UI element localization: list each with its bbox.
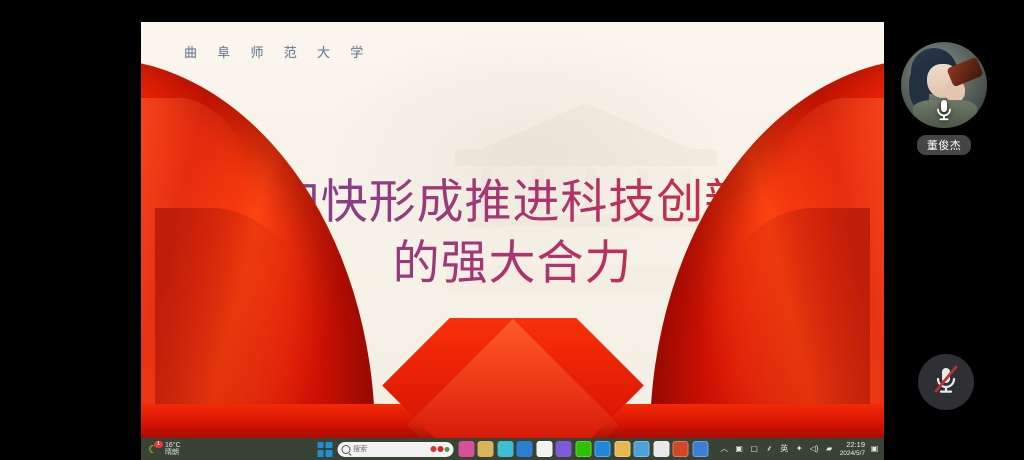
search-icon [341, 445, 350, 454]
weather-condition: 晴朗 [165, 449, 181, 456]
university-name: 曲 阜 师 范 大 学 [184, 42, 371, 61]
shared-screen-region[interactable]: 曲 阜 师 范 大 学 加快形成推进科技创新 的强大合力 ☾ 1 [141, 22, 884, 460]
app-browser-alt[interactable] [634, 441, 650, 457]
show-hidden-icons[interactable]: ︿ [719, 444, 730, 455]
wifi-icon[interactable]: ✦ [794, 444, 805, 455]
app-wechat[interactable] [575, 441, 591, 457]
participant-name: 董俊杰 [917, 135, 971, 155]
microphone-muted-icon [931, 363, 961, 402]
clock-time: 22:19 [846, 441, 865, 449]
app-clash[interactable] [497, 441, 513, 457]
microphone-icon [934, 97, 954, 130]
weather-temperature: 16°C [165, 442, 181, 449]
participant-tile[interactable]: 董俊杰 [898, 42, 990, 155]
app-xmind[interactable] [692, 441, 708, 457]
microphone-icon[interactable]: ⸙ [764, 444, 775, 455]
moon-icon: ☾ 1 [147, 442, 162, 457]
taskbar-search-box[interactable]: 搜索 [337, 442, 453, 457]
app-tencent-meeting[interactable] [653, 441, 669, 457]
taskbar-clock[interactable]: 22:19 2024/5/7 [840, 441, 865, 456]
weather-notification-badge: 1 [154, 441, 163, 448]
app-obsidian[interactable] [556, 441, 572, 457]
app-folder[interactable] [614, 441, 630, 457]
app-powerpoint[interactable] [673, 441, 689, 457]
clock-date: 2024/5/7 [840, 450, 865, 457]
red-curtain-center-peak [141, 318, 884, 438]
windows-taskbar[interactable]: ☾ 1 16°C 晴朗 搜索 ︿▣▢⸙英✦◁)▰ [141, 438, 884, 460]
berry-decoration-icon [430, 446, 449, 452]
app-file-explorer[interactable] [478, 441, 494, 457]
notification-bell-icon[interactable]: ▣ [869, 444, 880, 455]
app-media-player[interactable] [517, 441, 533, 457]
system-tray[interactable]: ︿▣▢⸙英✦◁)▰ 22:19 2024/5/7 ▣ [719, 438, 880, 460]
taskbar-weather-widget[interactable]: ☾ 1 16°C 晴朗 [147, 442, 213, 457]
app-edge[interactable] [595, 441, 611, 457]
app-microsoft-store[interactable] [536, 441, 552, 457]
ime-icon[interactable]: 英 [779, 444, 790, 455]
app-photos[interactable] [458, 441, 474, 457]
mute-microphone-button[interactable] [918, 354, 974, 410]
search-input[interactable]: 搜索 [353, 444, 427, 454]
battery-icon[interactable]: ▰ [824, 444, 835, 455]
slide-title: 加快形成推进科技创新 的强大合力 [141, 172, 884, 294]
volume-icon[interactable]: ◁) [809, 444, 820, 455]
presentation-slide[interactable]: 曲 阜 师 范 大 学 加快形成推进科技创新 的强大合力 [141, 22, 884, 438]
security-icon[interactable]: ▣ [734, 444, 745, 455]
taskbar-app-list[interactable] [458, 441, 708, 457]
start-button[interactable] [317, 442, 332, 457]
display-icon[interactable]: ▢ [749, 444, 760, 455]
